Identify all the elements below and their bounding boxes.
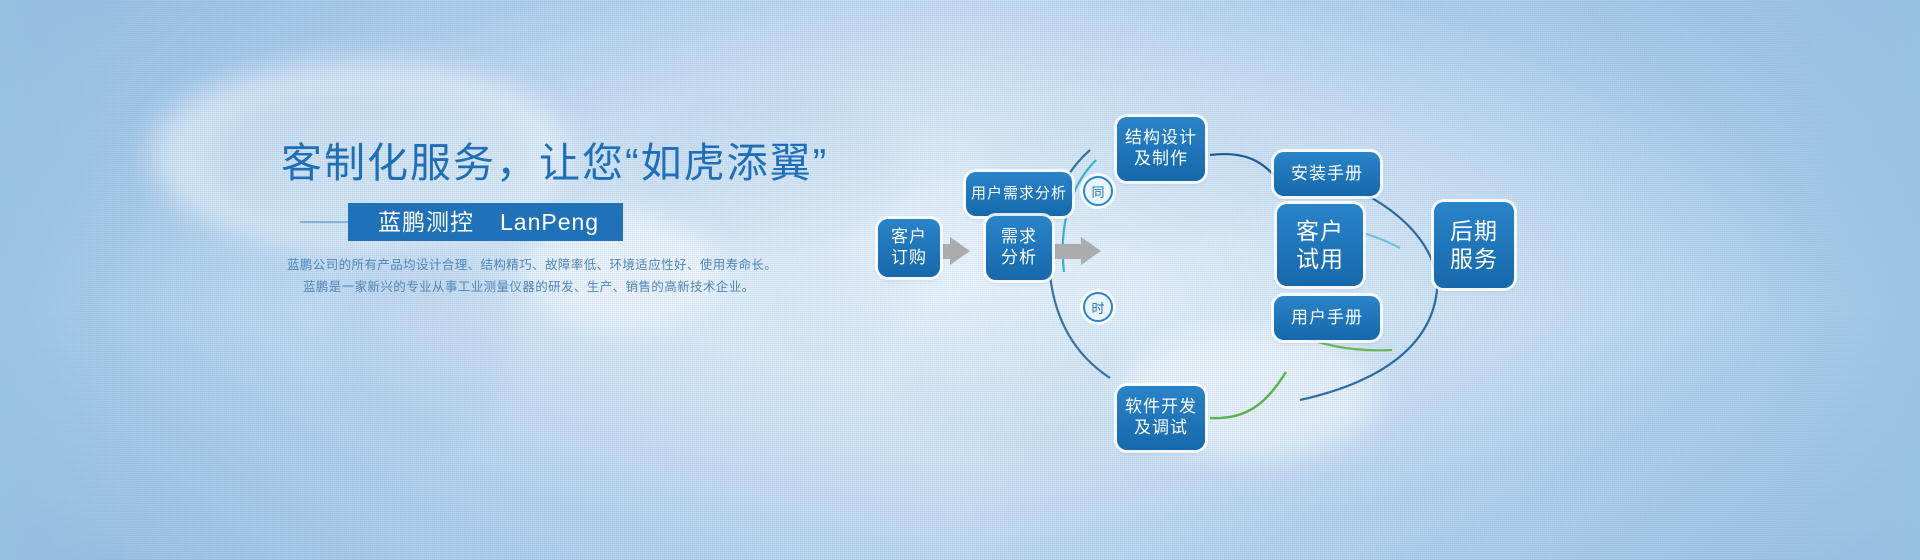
node-label: 分析: [1001, 248, 1037, 269]
flow-connector-arcs: [0, 0, 1920, 560]
badge-tong: 同: [1083, 176, 1113, 206]
badge-shi: 时: [1083, 292, 1113, 322]
node-structural-design[interactable]: 结构设计 及制作: [1117, 117, 1205, 181]
service-flow-diagram: 同 时 用户需求分析 客户 订购 需求 分析 结构设计 及制作: [0, 0, 1920, 560]
node-customer-order[interactable]: 客户 订购: [878, 219, 940, 277]
customization-service-banner: 客制化服务，让您“如虎添翼” 蓝鹏测控LanPeng 蓝鹏公司的所有产品均设计合…: [0, 0, 1920, 560]
node-user-requirement-analysis[interactable]: 用户需求分析: [966, 172, 1072, 216]
badge-tong-label: 同: [1091, 182, 1104, 201]
node-label: 服务: [1450, 245, 1498, 273]
node-customer-trial[interactable]: 客户 试用: [1277, 204, 1363, 286]
node-label: 客户: [1296, 217, 1344, 245]
node-software-development[interactable]: 软件开发 及调试: [1117, 386, 1205, 450]
node-label: 软件开发: [1125, 397, 1197, 418]
node-label: 安装手册: [1291, 164, 1363, 185]
node-label: 订购: [891, 248, 927, 269]
node-label: 客户: [891, 227, 927, 248]
node-label: 用户需求分析: [971, 185, 1067, 203]
node-installation-manual[interactable]: 安装手册: [1274, 152, 1380, 196]
node-label: 需求: [1001, 227, 1037, 248]
node-user-manual[interactable]: 用户手册: [1274, 296, 1380, 340]
node-requirement-analysis[interactable]: 需求 分析: [986, 216, 1052, 280]
node-label: 用户手册: [1291, 308, 1363, 329]
arc-dev-to-usermanual: [1210, 372, 1286, 418]
node-label: 试用: [1296, 245, 1344, 273]
node-label: 及制作: [1125, 149, 1197, 170]
arc-design-to-install: [1210, 154, 1284, 188]
node-label: 结构设计: [1125, 128, 1197, 149]
node-label: 后期: [1450, 217, 1498, 245]
badge-shi-label: 时: [1091, 298, 1104, 317]
node-after-sales-service[interactable]: 后期 服务: [1434, 202, 1514, 288]
node-label: 及调试: [1125, 418, 1197, 439]
